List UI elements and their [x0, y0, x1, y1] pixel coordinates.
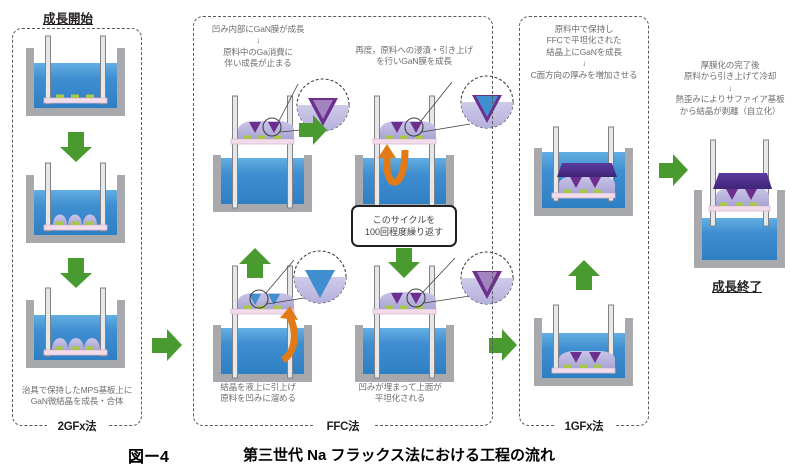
figure-caption: 第三世代 Na フラックス法における工程の流れ	[243, 444, 555, 465]
panel-ffc-label: FFC法	[313, 418, 373, 434]
crucible-icon-final	[694, 140, 785, 268]
green-arrow-icon-2gfx-to-ffc	[152, 329, 182, 361]
caption-ffc-bottomright: 凹みが埋まって上面が 平坦化される	[340, 382, 460, 405]
panel-2gfx-label: 2GFx法	[47, 418, 107, 434]
caption-final-top: 厚膜化の完了後 原料から引き上げて冷却 ↓ 熱歪みによりサファイア基板 から結晶…	[660, 60, 800, 117]
green-arrow-icon-ffc-to-1gfx	[489, 329, 517, 361]
panel-1gfx-label: 1GFx法	[554, 418, 614, 434]
stage-header-start: 成長開始	[43, 8, 93, 27]
cycle-repeat-box: このサイクルを 100回程度繰り返す	[351, 205, 457, 247]
cycle-box-line1: このサイクルを	[373, 214, 436, 226]
cycle-box-line2: 100回程度繰り返す	[365, 226, 443, 238]
caption-1gfx-top: 原料中で保持し FFCで平坦化された 結晶上にGaNを成長 ↓ C面方向の厚みを…	[519, 24, 649, 81]
green-arrow-icon-1gfx-to-final	[659, 154, 688, 186]
caption-ffc-topright: 再度，原料への浸漬・引き上げ を行いGaN膜を成長	[338, 45, 490, 68]
figure-canvas: 2GFx法 FFC法 1GFx法 成長開始 成長終了 治具で保持したMPS基板上…	[0, 0, 800, 471]
caption-ffc-bottomleft: 結晶を液上に引上げ 原料を凹みに溜める	[198, 382, 318, 405]
figure-number: 図ー4	[128, 443, 169, 467]
caption-ffc-topleft: 凹み内部にGaN膜が成長 ↓ 原料中のGa消費に 伴い成長が止まる	[196, 24, 320, 70]
stage-header-end: 成長終了	[712, 276, 762, 295]
panel-2gfx	[12, 28, 142, 426]
caption-2gfx-bottom: 治具で保持したMPS基板上に GaN微結晶を成長・合体	[12, 385, 142, 408]
